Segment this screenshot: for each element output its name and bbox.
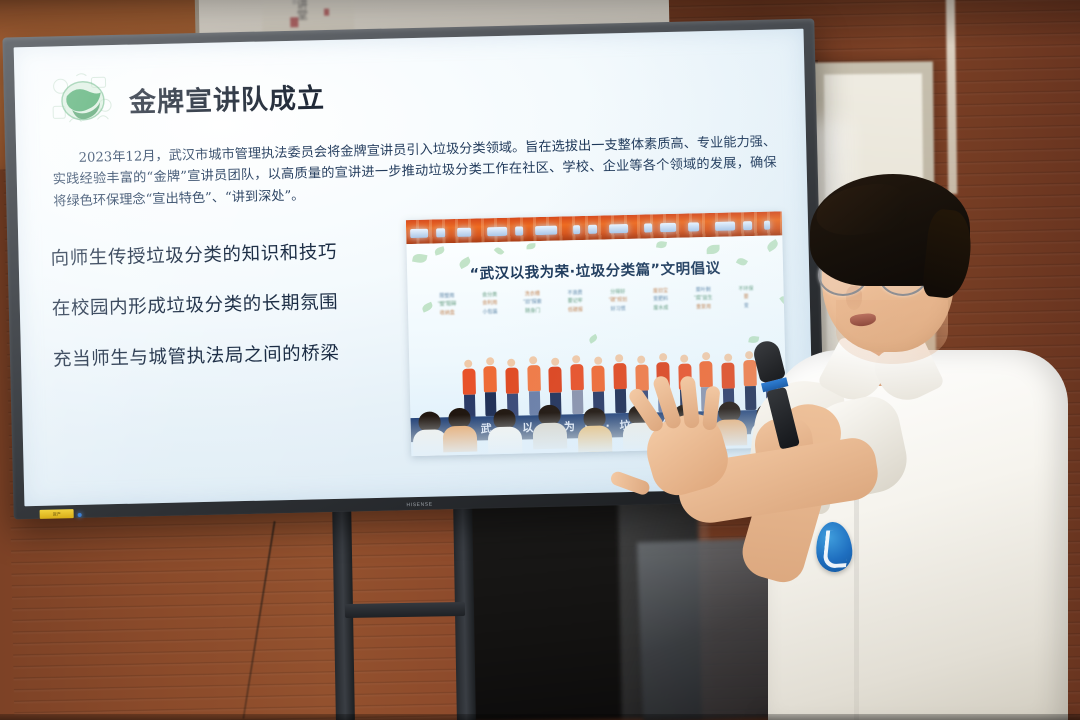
performer-head xyxy=(616,354,624,362)
stage-light xyxy=(515,227,523,236)
slide-header: 金牌宣讲队成立 xyxy=(46,55,779,130)
performer-vest xyxy=(592,366,606,392)
slogan-column: 分得好“碳”规划好习惯 xyxy=(609,289,628,312)
performer-vest xyxy=(462,369,476,395)
slogan-text: 要记牢 xyxy=(568,298,583,305)
slogan-column: 限塑用“塑”阻碍收纳盒 xyxy=(438,293,457,316)
slogan-column: 不浪费要记牢低碳报 xyxy=(567,290,583,313)
slogan-text: 小包装 xyxy=(482,309,497,316)
leaf-icon xyxy=(526,243,535,249)
slogan-text: 低碳报 xyxy=(568,307,583,314)
slogan-text: 随身门 xyxy=(525,308,540,315)
presentation-scene: 道德讲堂 崇德向善 xyxy=(0,0,1080,720)
stage-light xyxy=(410,229,428,238)
slogan-column: 洗衣槽“旧”探索随身门 xyxy=(523,291,542,314)
performer-head xyxy=(572,355,580,363)
slogan-text: 会利用 xyxy=(482,300,497,307)
stage-light xyxy=(436,228,445,237)
stage-light xyxy=(457,228,471,237)
leaf-icon xyxy=(412,253,427,264)
display-stand-crossbar xyxy=(345,602,465,618)
stage-light xyxy=(573,225,580,234)
hand-finger-4 xyxy=(702,386,721,431)
leaf-icon xyxy=(434,246,445,255)
slogan-text: 洗衣槽 xyxy=(525,291,540,298)
stage-light xyxy=(487,227,507,236)
performer-vest xyxy=(570,364,584,390)
slide-bullet-3: 充当师生与城管执法局之间的桥梁 xyxy=(53,341,405,371)
leaf-icon xyxy=(494,246,505,257)
performer-vest xyxy=(505,368,519,394)
slogan-text: “塑”阻碍 xyxy=(438,301,456,308)
performer-vest xyxy=(613,363,627,389)
stage-light xyxy=(588,225,597,234)
leaf-icon xyxy=(421,302,434,313)
slogan-text: 好习惯 xyxy=(611,306,626,313)
slogan-text: “旧”探索 xyxy=(523,299,541,306)
stage-light xyxy=(535,226,557,236)
performer-head xyxy=(508,359,516,367)
display-brand-mark: HISENSE xyxy=(406,502,432,509)
badge-swirl-icon xyxy=(822,529,850,569)
slogan-text: 会分类 xyxy=(482,292,497,299)
slogan-text: 限塑用 xyxy=(439,293,454,300)
performer-head xyxy=(594,357,602,365)
slogan-text: 分得好 xyxy=(610,289,625,296)
slide-title: 金牌宣讲队成立 xyxy=(128,76,325,120)
performer-vest xyxy=(527,365,541,391)
microphone-head xyxy=(751,338,786,383)
performer-vest xyxy=(484,366,498,392)
slogan-text: “碳”规划 xyxy=(609,297,627,304)
slide-bullet-2: 在校园内形成垃圾分类的长期氛围 xyxy=(52,291,404,321)
power-led-icon xyxy=(78,513,82,517)
slogan-text: 不浪费 xyxy=(567,290,582,297)
performer-head xyxy=(529,356,537,364)
stage-light xyxy=(609,224,628,233)
performer-head xyxy=(551,358,559,366)
presenter xyxy=(640,150,1080,720)
performer-vest xyxy=(548,367,562,393)
floor-edge xyxy=(0,714,1080,720)
performer-head xyxy=(464,360,472,368)
slogan-text: 收纳盒 xyxy=(440,310,455,317)
asset-sticker: 资产 xyxy=(40,509,74,519)
slogan-column: 会分类会利用小包装 xyxy=(482,292,498,315)
slide-bullet-list: 向师生传授垃圾分类的知识和技巧 在校园内形成垃圾分类的长期氛围 充当师生与城管执… xyxy=(50,226,407,464)
performer-head xyxy=(486,357,494,365)
slide-bullet-1: 向师生传授垃圾分类的知识和技巧 xyxy=(50,240,402,270)
green-globe-icon xyxy=(46,71,119,131)
